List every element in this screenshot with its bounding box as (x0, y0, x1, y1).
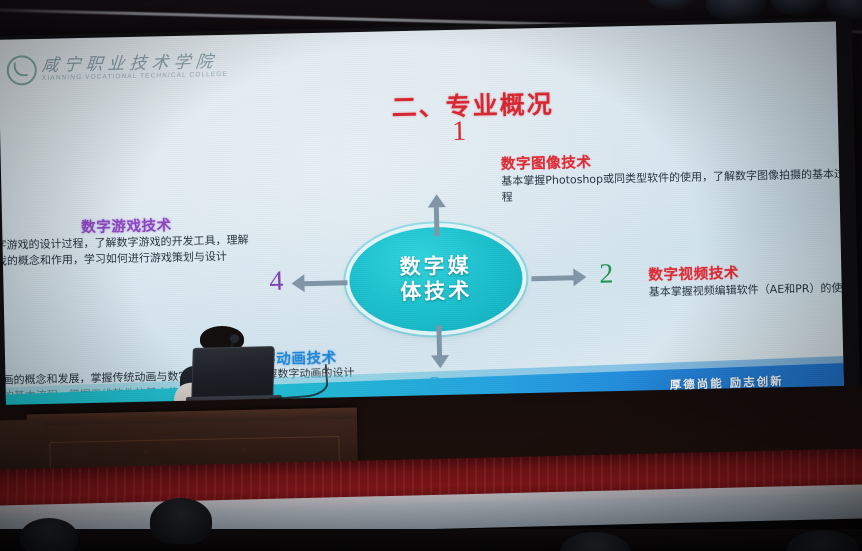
arrow-down-icon (429, 325, 450, 369)
branch-heading-1: 数字图像技术 (501, 151, 592, 174)
college-emblem-icon (6, 55, 37, 86)
branch-number-2: 2 (599, 260, 614, 288)
branch-number-4: 4 (269, 268, 284, 296)
slide-title: 二、专业概况 (391, 85, 554, 125)
arrow-right-icon (531, 267, 587, 288)
projection-screen-frame: 咸宁职业技术学院 XIANNING VOCATIONAL TECHNICAL C… (0, 17, 860, 411)
branch-body-2: 基本掌握视频编辑软件（AE和PR）的使用 (649, 280, 844, 300)
central-topic-line-2: 体技术 (400, 279, 473, 305)
audience-head-silhouette (150, 498, 212, 544)
college-logo: 咸宁职业技术学院 XIANNING VOCATIONAL TECHNICAL C… (6, 51, 228, 86)
central-topic-line-1: 数字媒 (399, 254, 472, 280)
arrow-up-icon (427, 194, 448, 236)
college-name-en: XIANNING VOCATIONAL TECHNICAL COLLEGE (42, 72, 228, 83)
foreground-dark-band (0, 529, 862, 551)
branch-number-1: 1 (452, 118, 467, 146)
arrow-left-icon (291, 272, 347, 293)
presentation-slide: 咸宁职业技术学院 XIANNING VOCATIONAL TECHNICAL C… (0, 22, 844, 408)
laptop-screen (191, 346, 275, 402)
branch-heading-2: 数字视频技术 (648, 262, 739, 285)
central-topic-ellipse: 数字媒 体技术 (348, 225, 523, 333)
photo-scene: 咸宁职业技术学院 XIANNING VOCATIONAL TECHNICAL C… (0, 0, 862, 551)
audience-head-silhouette (20, 518, 78, 551)
microphone-head (230, 334, 239, 343)
branch-body-1: 基本掌握Photoshop或同类型软件的使用，了解数字图像拍摄的基本过程 (501, 166, 844, 205)
branch-body-4: 了解数字游戏的设计过程，了解数字游戏的开发工具，理解数字游戏的概念和作用，学习如… (0, 232, 258, 270)
